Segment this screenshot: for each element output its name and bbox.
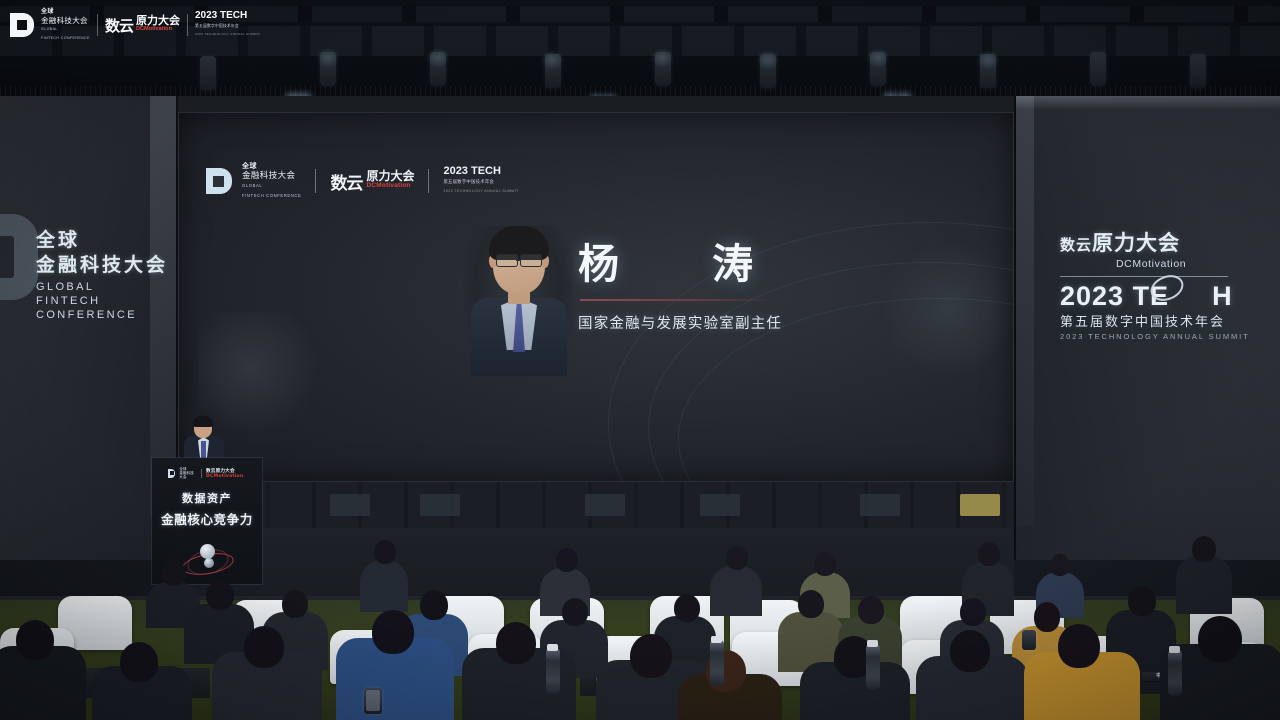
stage-light xyxy=(1090,52,1106,86)
skirt-panel xyxy=(960,494,1000,516)
left-wall-signage: 全球 金融科技大会 GLOBAL FINTECH CONFERENCE xyxy=(0,222,170,322)
left-sign-cn: 全球 金融科技大会 xyxy=(36,228,168,278)
screen-bezel xyxy=(178,112,1014,482)
left-sign-en: GLOBAL FINTECH CONFERENCE xyxy=(36,280,170,322)
podium-brand-cn2: 金融科技大会 xyxy=(179,471,197,479)
audience-head xyxy=(496,622,536,664)
watermark-year-title: 2023 TECH xyxy=(195,12,260,20)
stage-light-glow xyxy=(866,48,890,68)
podium-brand-text: 全球 金融科技大会 xyxy=(179,467,197,479)
audience-head xyxy=(798,590,824,618)
audience-head xyxy=(630,634,672,678)
stage-light-glow xyxy=(756,50,780,70)
left-sign-en-line2: FINTECH CONFERENCE xyxy=(36,294,170,322)
stage-light-glow xyxy=(540,50,564,70)
audience-head xyxy=(374,540,396,564)
audience-member xyxy=(360,560,408,612)
podium-topic: 数据资产 金融核心竞争力 xyxy=(152,490,262,528)
watermark-brand-cn2: 金融科技大会 xyxy=(41,17,90,24)
watermark-event-logo: 数云 原力大会 DCMotivation xyxy=(105,15,180,36)
watermark-brand-cn1: 全球 xyxy=(41,8,90,15)
water-bottle-icon xyxy=(866,644,880,690)
audience-head xyxy=(726,546,748,570)
watermark-brand-en2: FINTECH CONFERENCE xyxy=(41,35,90,42)
skirt-panel xyxy=(585,494,625,516)
audience-head xyxy=(1034,602,1060,632)
audience-member xyxy=(1176,556,1232,614)
global-fintech-logo-icon xyxy=(168,469,175,478)
audience-head xyxy=(960,598,986,626)
right-sign-title-row: 数云原力大会 xyxy=(1060,232,1280,257)
audience-head xyxy=(556,548,578,572)
conference-hall-scene: 全球 金融科技大会 GLOBAL FINTECH CONFERENCE 数云原力… xyxy=(0,0,1280,720)
audience-head xyxy=(674,594,700,622)
left-sign-cn-line1: 全球 xyxy=(36,228,168,253)
audience-head xyxy=(372,610,414,654)
audience-head xyxy=(1192,536,1216,562)
right-sign-en-sub: 2023 TECHNOLOGY ANNUAL SUMMIT xyxy=(1060,332,1280,341)
speaker-at-podium xyxy=(182,418,226,462)
skirt-panel xyxy=(700,494,740,516)
orbit-sphere-icon xyxy=(182,536,232,578)
audience-head xyxy=(814,552,836,576)
right-sign-cn-title: 原力大会 xyxy=(1092,231,1180,255)
bottle-cap xyxy=(867,640,878,647)
audience-member xyxy=(710,566,762,616)
right-sign-year-tail: H xyxy=(1212,281,1233,311)
watermark-brand-en1: GLOBAL xyxy=(41,26,90,33)
water-bottle-icon xyxy=(1168,650,1182,696)
right-sign-en-title: DCMotivation xyxy=(1116,258,1280,270)
orbit-sphere-small xyxy=(204,558,214,568)
speaker-tie xyxy=(201,441,206,459)
water-bottle-icon xyxy=(546,648,560,694)
smartphone-screen xyxy=(366,690,380,711)
watermark-divider xyxy=(97,14,98,36)
podium-topic-line2: 金融核心竞争力 xyxy=(152,509,262,528)
wall-seam-right xyxy=(1014,96,1016,596)
stage-light-glow xyxy=(316,48,340,68)
stage-light xyxy=(200,56,216,90)
skirt-panel xyxy=(860,494,900,516)
stage-light-glow xyxy=(976,50,1000,70)
watermark-year-logo: 2023 TECH 第五届数字中国技术年会 2023 TECHNOLOGY AN… xyxy=(195,12,260,38)
watermark-event-cn: 原力大会 xyxy=(136,17,180,25)
audience-head xyxy=(858,596,884,624)
audience-head xyxy=(16,620,54,660)
broadcast-watermark: 全球 金融科技大会 GLOBAL FINTECH CONFERENCE 数云 原… xyxy=(10,8,260,42)
speaker-hair xyxy=(193,416,213,427)
left-sign-cn-line2: 金融科技大会 xyxy=(36,253,168,278)
audience-head xyxy=(206,580,234,610)
audience-head xyxy=(1198,616,1242,662)
bottle-cap xyxy=(1169,646,1180,653)
watermark-event-stack: 原力大会 DCMotivation xyxy=(136,17,180,33)
audience-head xyxy=(282,590,308,618)
audience-head xyxy=(978,542,1000,566)
podium-logos: 全球 金融科技大会 数云原力大会 DCMotivation xyxy=(168,467,262,479)
watermark-event-mark: 数云 xyxy=(105,15,133,36)
water-bottle-icon xyxy=(710,640,724,686)
bottle-cap xyxy=(711,636,722,643)
podium-logo-divider xyxy=(201,469,202,478)
stage-light-glow xyxy=(426,48,450,68)
skirt-panel xyxy=(420,494,460,516)
stage-light xyxy=(1190,54,1206,88)
right-sign-mark: 数云 xyxy=(1060,236,1092,254)
audience-head xyxy=(1050,554,1070,576)
stage-light-glow xyxy=(650,48,674,68)
fintech-conference-mark-icon xyxy=(0,214,38,300)
audience-head xyxy=(950,630,990,672)
audience-head xyxy=(120,642,158,682)
audience-head xyxy=(420,590,448,620)
global-fintech-logo-icon xyxy=(10,13,34,37)
watermark-brand-text: 全球 金融科技大会 GLOBAL FINTECH CONFERENCE xyxy=(41,8,90,42)
audience-head xyxy=(244,626,284,668)
watermark-divider xyxy=(187,14,188,36)
audience-head xyxy=(162,560,186,586)
skirt-panel xyxy=(330,494,370,516)
right-sign-divider xyxy=(1060,276,1228,277)
audience-head xyxy=(1128,586,1156,616)
orbit-sphere-main xyxy=(200,544,215,559)
watermark-year-cn: 第五届数字中国技术年会 xyxy=(195,22,260,30)
right-wall-panel xyxy=(1016,96,1280,596)
podium-topic-line1: 数据资产 xyxy=(152,490,262,506)
podium-event-en: DCMotivation xyxy=(206,474,243,479)
right-top-light-strip xyxy=(1016,96,1280,110)
audience-head xyxy=(1058,624,1100,668)
right-light-strip xyxy=(1016,96,1034,526)
smartphone-icon[interactable] xyxy=(1022,630,1036,650)
audience-head xyxy=(562,598,588,626)
watermark-year-en: 2023 TECHNOLOGY ANNUAL SUMMIT xyxy=(195,30,260,38)
right-sign-cn-sub: 第五届数字中国技术年会 xyxy=(1060,311,1280,330)
podium-event-logo: 数云原力大会 DCMotivation xyxy=(206,468,262,479)
bottle-cap xyxy=(547,644,558,651)
left-sign-en-line1: GLOBAL xyxy=(36,280,170,294)
